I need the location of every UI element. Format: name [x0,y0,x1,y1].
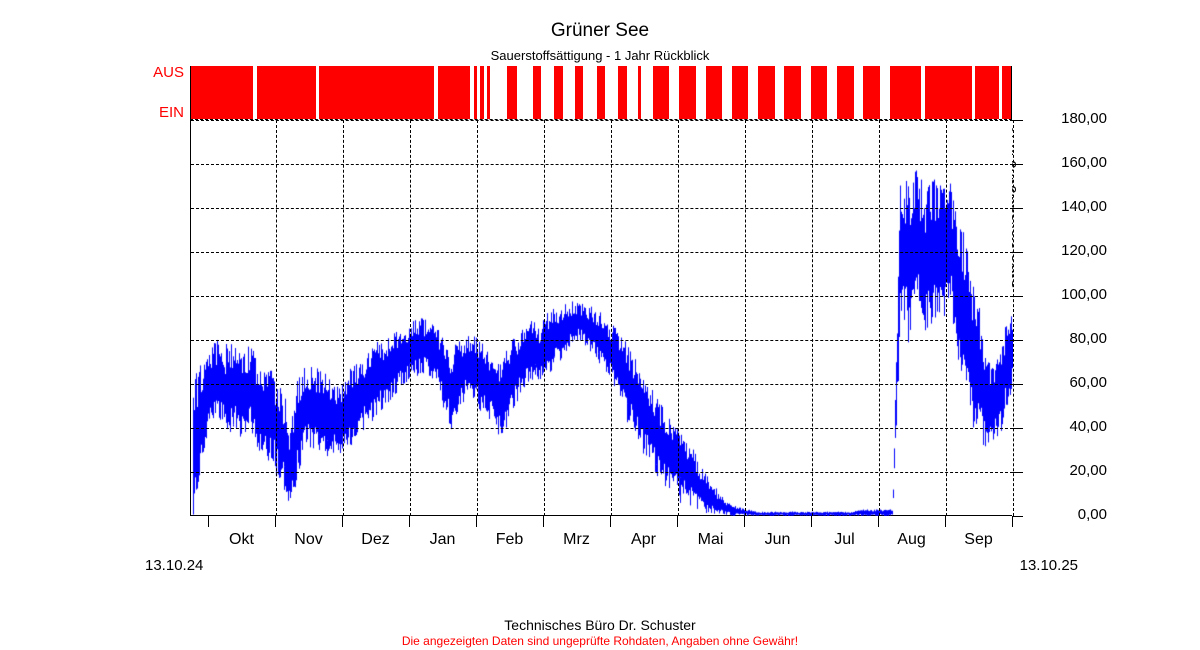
gridline-horizontal [191,120,1013,121]
y-tick-label: 60,00 [1029,374,1107,391]
x-tick-mark [1012,516,1013,527]
y-tick-label: 80,00 [1029,330,1107,347]
x-tick-label: Sep [939,531,1019,549]
x-tick-mark [409,516,410,527]
gridline-horizontal [191,472,1013,473]
pump-status-segment [679,66,695,119]
y-tick-label: 40,00 [1029,418,1107,435]
y-tick-mark [1012,340,1023,341]
chart-root: Grüner See Sauerstoffsättigung - 1 Jahr … [0,0,1200,650]
x-tick-mark [275,516,276,527]
gridline-horizontal [191,384,1013,385]
y-tick-label: 120,00 [1029,242,1107,259]
pump-status-segment [575,66,583,119]
pump-status-segment [257,66,316,119]
x-tick-mark [878,516,879,527]
range-end-label: 13.10.25 [968,557,1078,574]
pump-on-label: EIN [138,104,184,121]
gridline-horizontal [191,428,1013,429]
pump-status-segment [837,66,853,119]
oxygen-saturation-series [191,120,1013,516]
y-tick-mark [1012,120,1023,121]
y-tick-label: 180,00 [1029,110,1107,127]
chart-title: Grüner See [0,20,1200,42]
pump-status-segment [319,66,434,119]
gridline-vertical [879,120,880,516]
footer-organisation: Technisches Büro Dr. Schuster [0,617,1200,633]
pump-status-segment [438,66,470,119]
pump-status-segment [863,66,879,119]
gridline-vertical [745,120,746,516]
y-tick-label: 160,00 [1029,154,1107,171]
x-tick-mark [476,516,477,527]
y-tick-mark [1012,164,1023,165]
pump-off-label: AUS [138,64,184,81]
pump-status-segment [1002,66,1012,119]
pump-status-segment [480,66,483,119]
pump-status-segment [474,66,477,119]
gridline-horizontal [191,340,1013,341]
gridline-vertical [276,120,277,516]
pump-status-segment [975,66,999,119]
pump-status-segment [191,66,253,119]
pump-status-segment [706,66,722,119]
gridline-horizontal [191,252,1013,253]
x-tick-mark [811,516,812,527]
x-tick-mark [342,516,343,527]
y-tick-mark [1012,296,1023,297]
y-tick-mark [1012,428,1023,429]
y-tick-label: 140,00 [1029,198,1107,215]
gridline-horizontal [191,296,1013,297]
pump-status-segment [507,66,516,119]
gridline-vertical [477,120,478,516]
y-tick-label: 100,00 [1029,286,1107,303]
pump-status-segment [732,66,748,119]
pump-status-band [190,66,1012,119]
pump-status-segment [925,66,972,119]
gridline-vertical [1013,120,1014,516]
gridline-vertical [611,120,612,516]
pump-status-segment [597,66,605,119]
x-tick-mark [208,516,209,527]
pump-status-segment [890,66,921,119]
pump-status-segment [487,66,490,119]
y-tick-mark [1012,252,1023,253]
gridline-vertical [946,120,947,516]
y-tick-mark [1012,384,1023,385]
chart-subtitle: Sauerstoffsättigung - 1 Jahr Rückblick [0,48,1200,63]
x-tick-mark [543,516,544,527]
x-tick-mark [677,516,678,527]
x-tick-mark [945,516,946,527]
pump-status-segment [811,66,827,119]
gridline-vertical [812,120,813,516]
gridline-vertical [343,120,344,516]
pump-status-segment [618,66,626,119]
y-tick-mark [1012,472,1023,473]
gridline-horizontal [191,208,1013,209]
pump-status-segment [653,66,669,119]
pump-status-segment [533,66,541,119]
y-tick-label: 20,00 [1029,462,1107,479]
gridline-vertical [678,120,679,516]
pump-status-segment [758,66,774,119]
y-tick-label: 0,00 [1029,506,1107,523]
gridline-horizontal [191,164,1013,165]
pump-status-segment [554,66,562,119]
y-tick-mark [1012,516,1023,517]
pump-status-segment [784,66,800,119]
gridline-vertical [544,120,545,516]
plot-area [190,120,1012,516]
pump-status-segment [638,66,641,119]
footer-disclaimer: Die angezeigten Daten sind ungeprüfte Ro… [0,634,1200,648]
gridline-vertical [410,120,411,516]
y-tick-mark [1012,208,1023,209]
x-tick-mark [610,516,611,527]
x-tick-mark [744,516,745,527]
range-start-label: 13.10.24 [145,557,255,574]
